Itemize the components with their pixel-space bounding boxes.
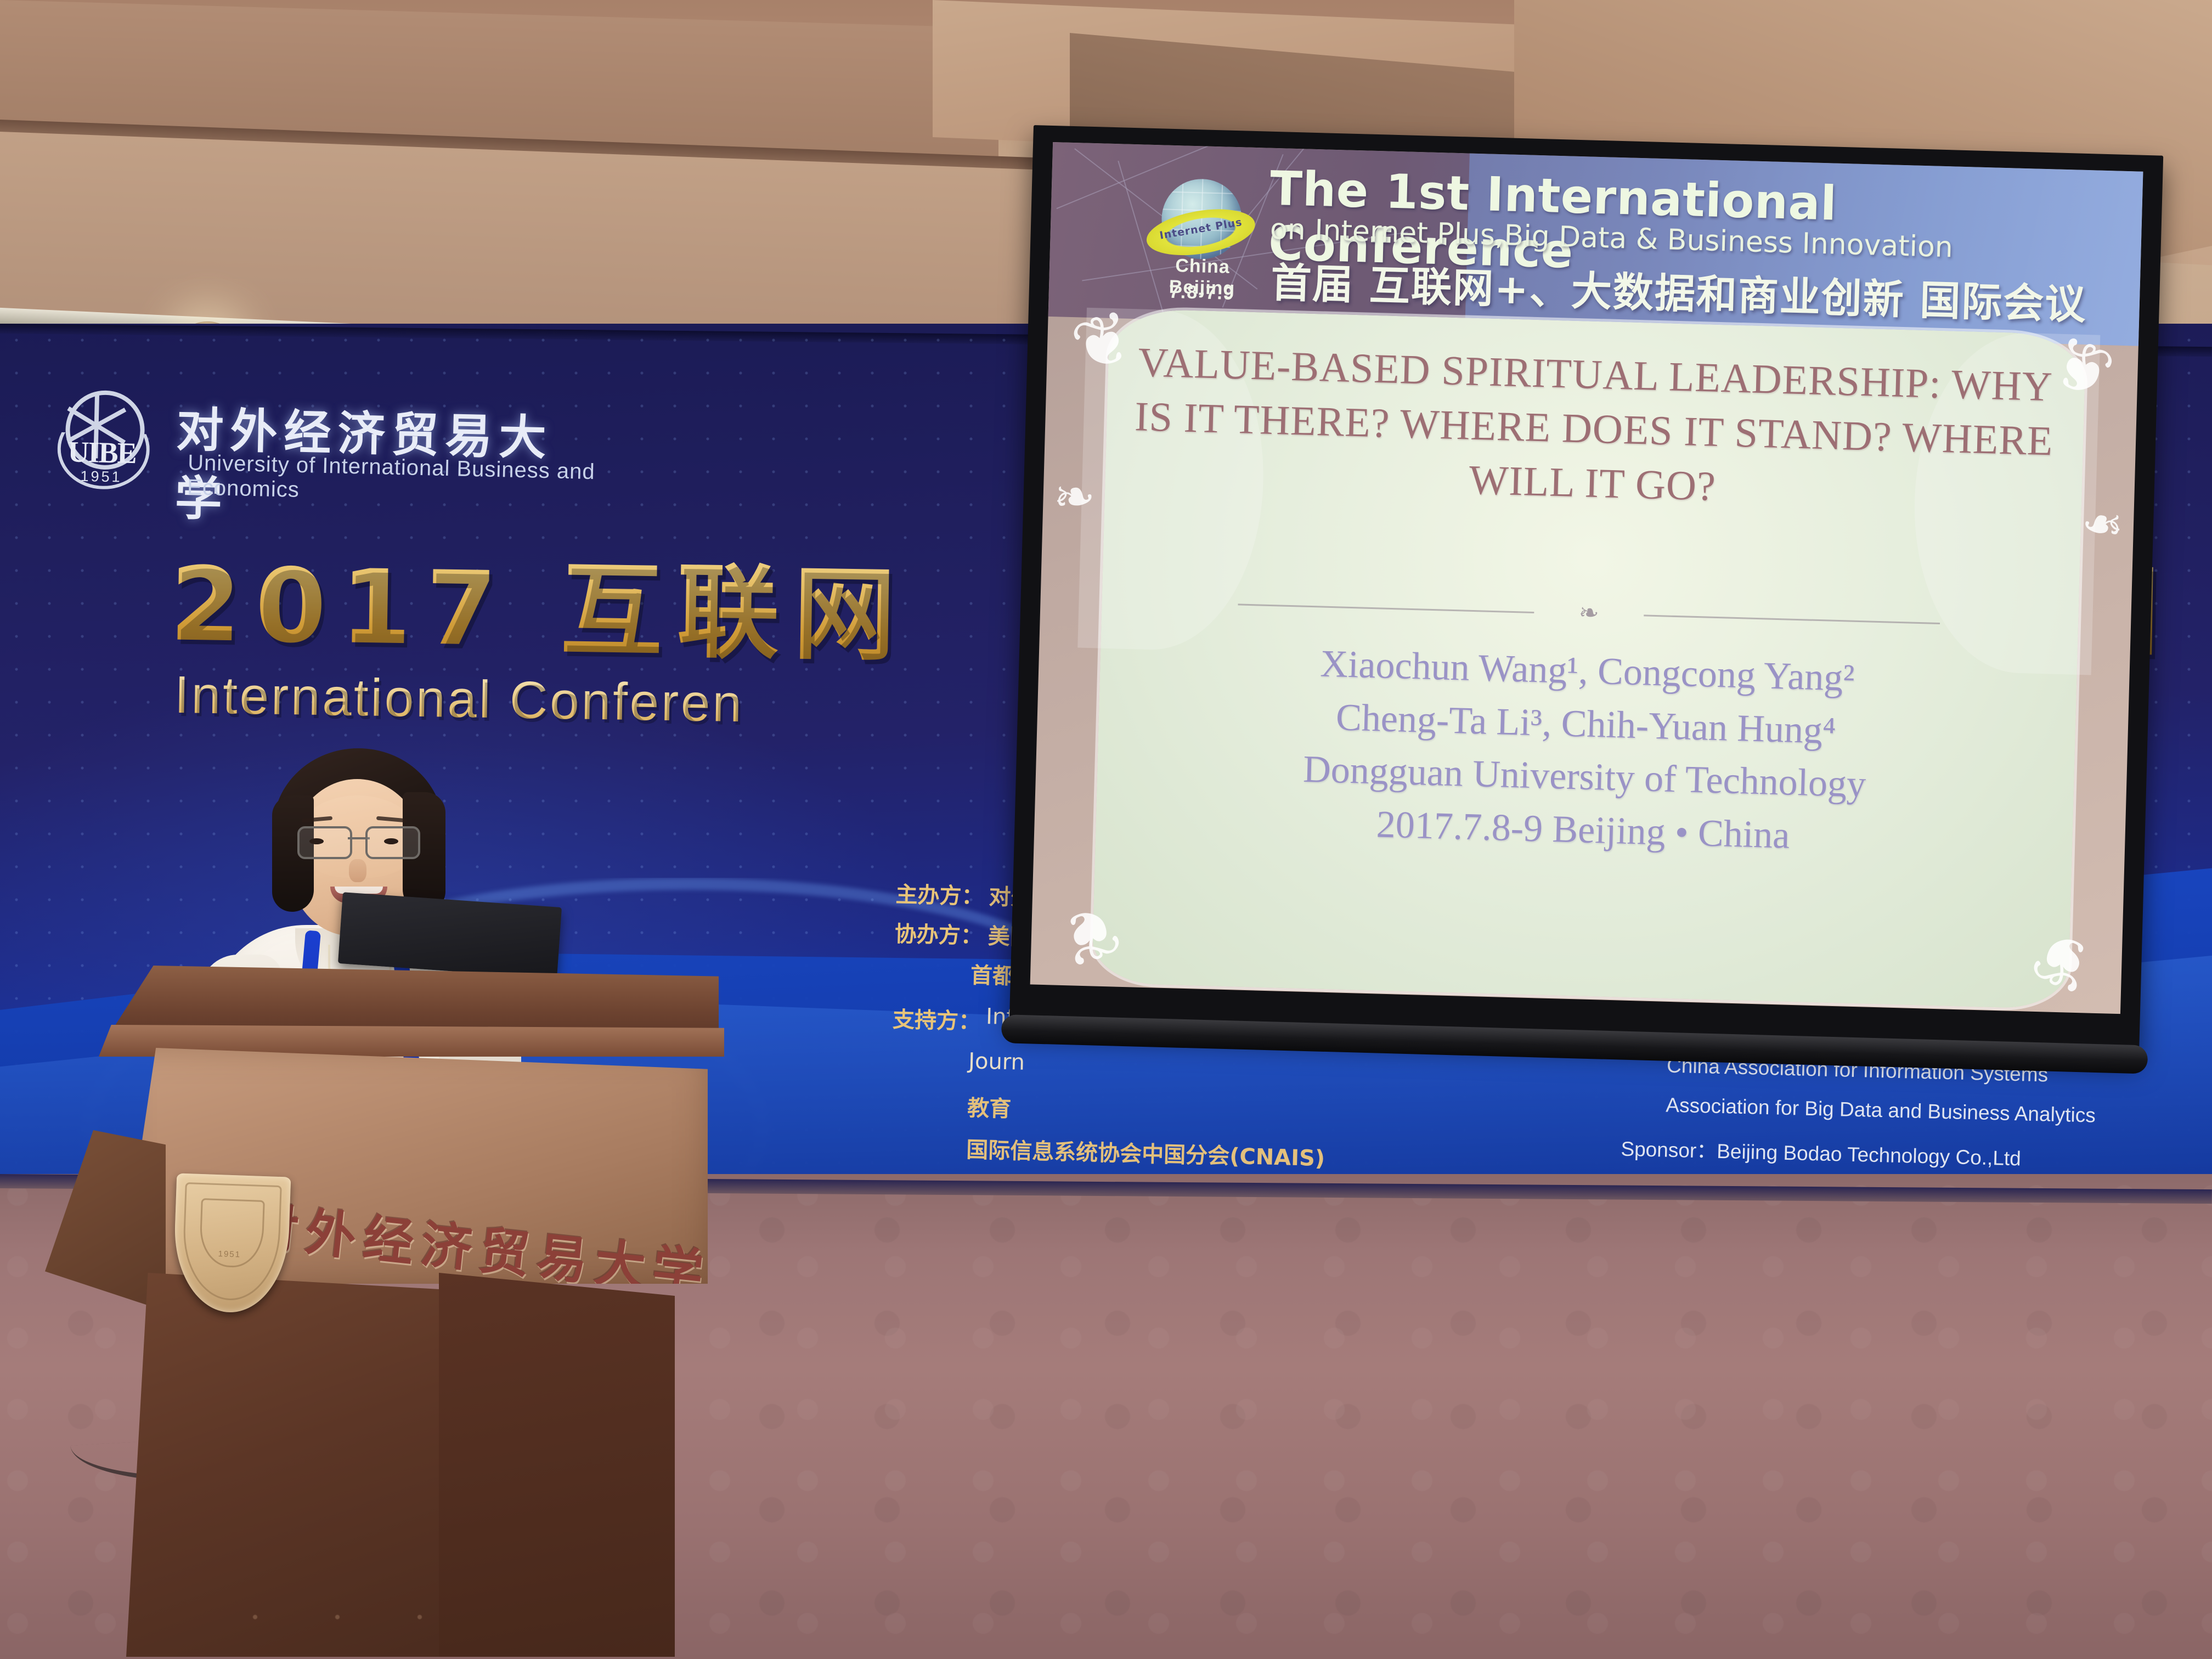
uibe-english-name: University of International Business and… [187,450,601,509]
uibe-emblem-icon: UIBE 1951 [51,381,157,493]
podium-column-right [439,1273,675,1657]
teeth [335,887,383,894]
sponsor-row: 教育 [890,1088,1440,1133]
sponsor-label: 主办方： [895,877,984,911]
sponsor-value: 国际信息系统协会中国分会(CNAIS) [966,1132,1325,1172]
sponsor-value: 教育 [967,1090,1012,1123]
eye-right [384,838,398,844]
laptop-screen [338,892,562,979]
nose [349,859,366,882]
sponsor-label: 协办方： [894,916,983,950]
podium-column [126,1273,488,1657]
sponsor-en-line: Association for Big Data and Business An… [1622,1093,2212,1132]
uibe-acronym: UIBE [60,435,143,470]
projection-screen: Internet Plus The 1st International Conf… [1009,125,2164,1055]
uibe-logo: UIBE 1951 对外经济贸易大学 University of Interna… [51,381,602,511]
sponsor-value: Journ [968,1048,1025,1075]
banner-title-english: International Conferen [174,665,744,734]
conference-room-photo: UIBE 1951 对外经济贸易大学 University of Interna… [0,0,2212,1659]
banner-title-chinese: 2017 互联网 [169,521,911,680]
slide-header-date: 7.8-7.9 [1138,280,1265,305]
presentation-slide: Internet Plus The 1st International Conf… [1030,142,2143,1014]
sponsor-label: 支持方： [892,1002,980,1036]
uibe-founding-year: 1951 [60,467,143,486]
eye-left [309,838,324,844]
slide-author-block: Xiaochun Wang¹, Congcong Yang² Cheng-Ta … [1116,633,2055,870]
slide-title: VALUE-BASED SPIRITUAL LEADERSHIP: WHY IS… [1126,335,2062,523]
sponsor-row: 国际信息系统协会中国分会(CNAIS) [889,1130,1438,1175]
lectern-podium: 对外经济贸易大学 1951 [33,966,724,1659]
divider-flourish-icon: ❧ [1578,601,1599,625]
sponsor-en-line: Sponsor：Beijing Bodao Technology Co.,Ltd [1621,1132,2212,1178]
